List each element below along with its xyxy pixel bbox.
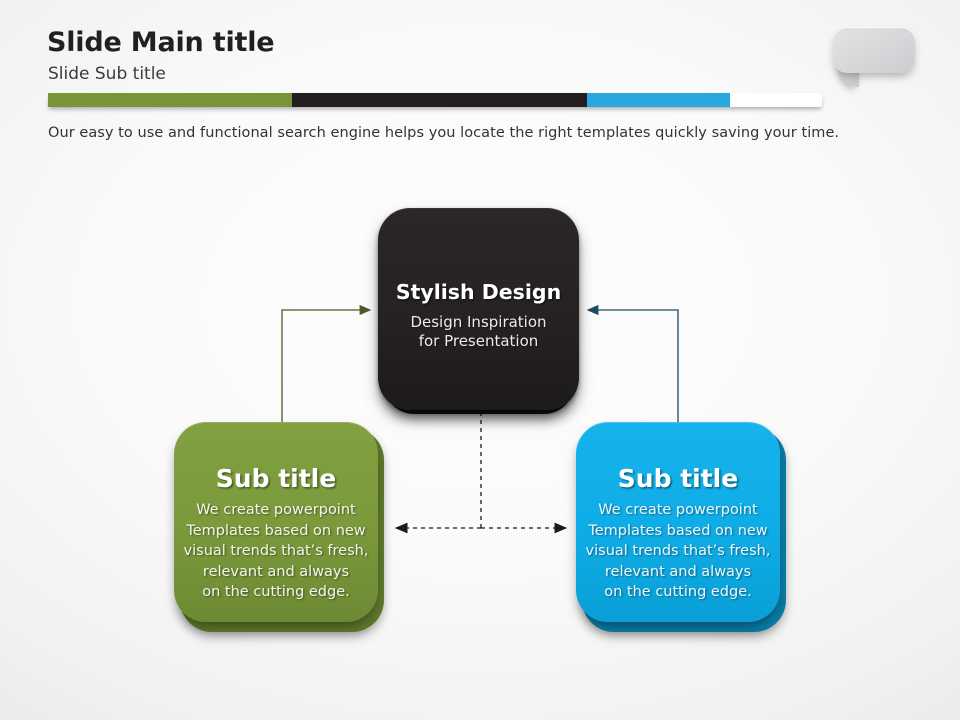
card-right-body-line: on the cutting edge. bbox=[576, 582, 780, 603]
card-left-body-line: Templates based on new bbox=[174, 521, 378, 542]
card-right-body-line: relevant and always bbox=[576, 562, 780, 583]
card-right-sub-title[interactable]: Sub title We create powerpoint Templates… bbox=[576, 422, 780, 622]
connector-center-to-sides bbox=[396, 412, 566, 528]
card-left-body: We create powerpoint Templates based on … bbox=[174, 500, 378, 603]
accent-color-bar bbox=[48, 93, 822, 107]
card-center-body-line: Design Inspiration bbox=[378, 313, 579, 332]
speech-bubble-icon bbox=[833, 27, 915, 73]
intro-paragraph: Our easy to use and functional search en… bbox=[48, 125, 839, 141]
card-left-body-line: on the cutting edge. bbox=[174, 582, 378, 603]
page-subtitle: Slide Sub title bbox=[48, 64, 166, 84]
card-left-title: Sub title bbox=[174, 464, 378, 493]
card-right-body: We create powerpoint Templates based on … bbox=[576, 500, 780, 603]
card-left-body-line: relevant and always bbox=[174, 562, 378, 583]
card-right-body-line: Templates based on new bbox=[576, 521, 780, 542]
card-left-sub-title[interactable]: Sub title We create powerpoint Templates… bbox=[174, 422, 378, 622]
card-right-body-line: visual trends that’s fresh, bbox=[576, 541, 780, 562]
connector-left-to-center bbox=[282, 310, 370, 424]
card-center-body: Design Inspiration for Presentation bbox=[378, 313, 579, 351]
color-bar-segment-blue bbox=[587, 93, 730, 107]
slide-canvas: Slide Main title Slide Sub title Our eas… bbox=[0, 0, 960, 720]
color-bar-segment-black bbox=[292, 93, 587, 107]
card-center-body-line: for Presentation bbox=[378, 332, 579, 351]
card-left-body-line: visual trends that’s fresh, bbox=[174, 541, 378, 562]
speech-bubble-body bbox=[833, 27, 915, 73]
color-bar-segment-green bbox=[48, 93, 292, 107]
color-bar-segment-white bbox=[730, 93, 822, 107]
connector-right-to-center bbox=[588, 310, 678, 424]
card-center-stylish-design[interactable]: Stylish Design Design Inspiration for Pr… bbox=[378, 208, 579, 410]
card-right-body-line: We create powerpoint bbox=[576, 500, 780, 521]
card-left-body-line: We create powerpoint bbox=[174, 500, 378, 521]
page-title: Slide Main title bbox=[47, 27, 274, 58]
card-right-title: Sub title bbox=[576, 464, 780, 493]
card-center-title: Stylish Design bbox=[378, 280, 579, 304]
